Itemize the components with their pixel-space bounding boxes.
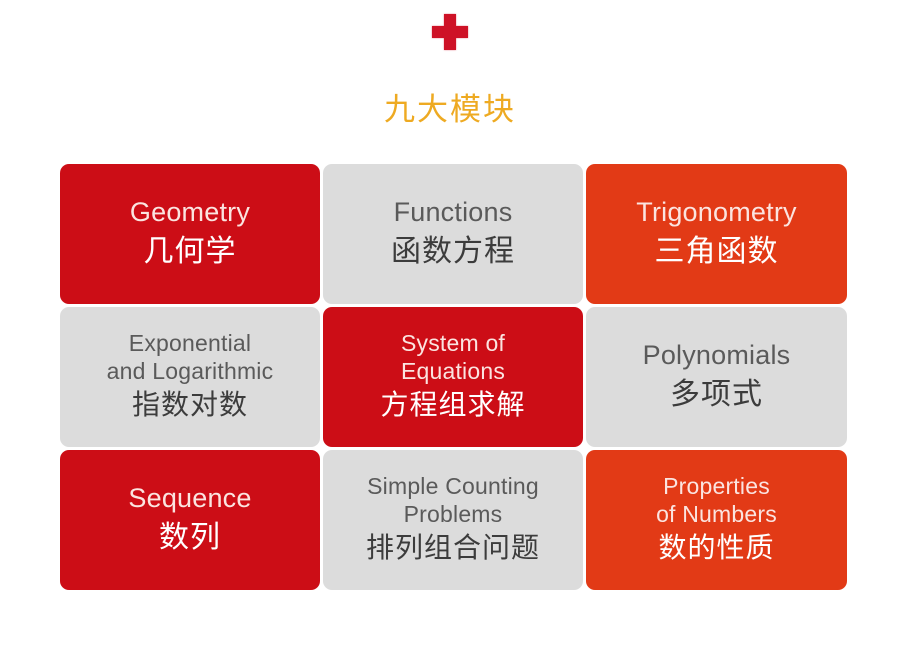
module-label-en: Trigonometry <box>636 197 796 228</box>
module-label-en-line2: of Numbers <box>656 501 777 529</box>
module-cell-properties-of-numbers[interactable]: Properties of Numbers 数的性质 <box>586 450 847 590</box>
module-cell-simple-counting-problems[interactable]: Simple Counting Problems 排列组合问题 <box>323 450 583 590</box>
module-label-zh: 排列组合问题 <box>366 530 540 566</box>
page-title: 九大模块 <box>384 94 516 125</box>
module-cell-geometry[interactable]: Geometry 几何学 <box>60 164 320 304</box>
module-cell-exponential-and-logarithmic[interactable]: Exponential and Logarithmic 指数对数 <box>60 307 320 447</box>
module-label-en-line1: Simple Counting <box>367 473 539 501</box>
module-label-zh: 三角函数 <box>655 232 779 271</box>
page-header: 九大模块 <box>0 0 900 125</box>
module-label-en: Geometry <box>130 197 250 228</box>
module-cell-functions[interactable]: Functions 函数方程 <box>323 164 583 304</box>
module-label-zh: 多项式 <box>670 375 763 414</box>
module-cell-system-of-equations[interactable]: System of Equations 方程组求解 <box>323 307 583 447</box>
module-label-en-line1: Exponential <box>129 330 251 358</box>
module-label-en: Functions <box>394 197 513 228</box>
module-label-zh: 方程组求解 <box>380 387 525 423</box>
module-label-zh: 数的性质 <box>658 530 774 566</box>
module-label-en-line2: Equations <box>401 358 505 386</box>
module-label-en-line2: Problems <box>404 501 503 529</box>
module-grid: Geometry 几何学 Functions 函数方程 Trigonometry… <box>60 164 847 590</box>
module-cell-trigonometry[interactable]: Trigonometry 三角函数 <box>586 164 847 304</box>
module-label-en: Polynomials <box>643 340 791 371</box>
module-cell-polynomials[interactable]: Polynomials 多项式 <box>586 307 847 447</box>
module-label-zh: 函数方程 <box>391 232 515 271</box>
module-label-zh: 指数对数 <box>132 387 248 423</box>
module-label-zh: 几何学 <box>144 232 237 271</box>
module-label-en-line1: Properties <box>663 473 770 501</box>
module-label-zh: 数列 <box>159 518 221 557</box>
module-label-en-line2: and Logarithmic <box>107 358 274 386</box>
module-cell-sequence[interactable]: Sequence 数列 <box>60 450 320 590</box>
plus-icon-vertical-bar <box>444 14 456 50</box>
module-label-en: Sequence <box>128 483 251 514</box>
module-label-en-line1: System of <box>401 330 505 358</box>
plus-icon <box>432 14 468 50</box>
